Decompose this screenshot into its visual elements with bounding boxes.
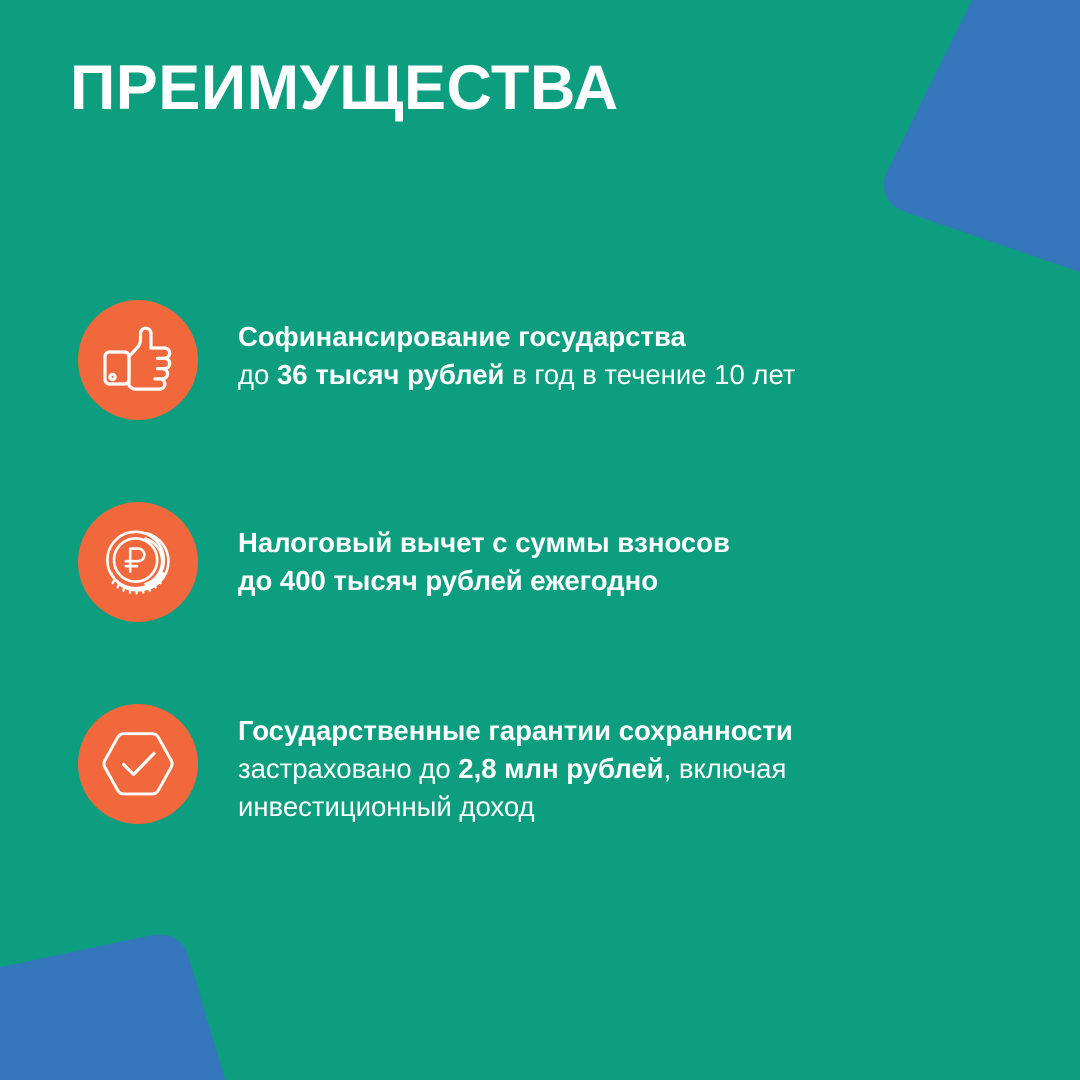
benefit-heading: Государственные гарантии сохранности [238,712,938,750]
benefits-list: Софинансирование государства до 36 тысяч… [0,292,1080,898]
benefit-body: до 36 тысяч рублей в год в течение 10 ле… [238,356,938,394]
benefit-body-line-2: инвестиционный доход [238,788,938,826]
body-pre: до [238,359,277,390]
benefit-text-state-guarantee: Государственные гарантии сохранности зас… [238,712,938,826]
body-strong: 36 тысяч рублей [277,359,504,390]
ruble-coin-icon [78,502,198,622]
body-strong: 2,8 млн рублей [458,753,663,784]
benefit-text-cofinancing: Софинансирование государства до 36 тысяч… [238,318,938,394]
benefit-heading: Софинансирование государства [238,318,938,356]
body-post: , включая [664,753,787,784]
benefit-body: до 400 тысяч рублей ежегодно [238,562,938,600]
body-pre: застраховано до [238,753,458,784]
benefit-item-cofinancing: Софинансирование государства до 36 тысяч… [0,292,1080,494]
body-strong: до 400 тысяч рублей ежегодно [238,565,658,596]
poster-canvas: ПРЕИМУЩЕСТВА [0,0,1080,1080]
benefit-item-tax-deduction: Налоговый вычет с суммы взносов до 400 т… [0,494,1080,696]
hexagon-check-icon [78,704,198,824]
benefit-item-state-guarantee: Государственные гарантии сохранности зас… [0,696,1080,898]
page-title: ПРЕИМУЩЕСТВА [70,55,619,121]
body-post: в год в течение 10 лет [504,359,795,390]
benefit-body: застраховано до 2,8 млн рублей, включая [238,750,938,788]
blue-shape-top-right [884,0,1080,300]
benefit-heading: Налоговый вычет с суммы взносов [238,524,938,562]
blue-shape-bottom-left [0,935,243,1080]
thumbs-up-icon [78,300,198,420]
benefit-text-tax-deduction: Налоговый вычет с суммы взносов до 400 т… [238,524,938,600]
